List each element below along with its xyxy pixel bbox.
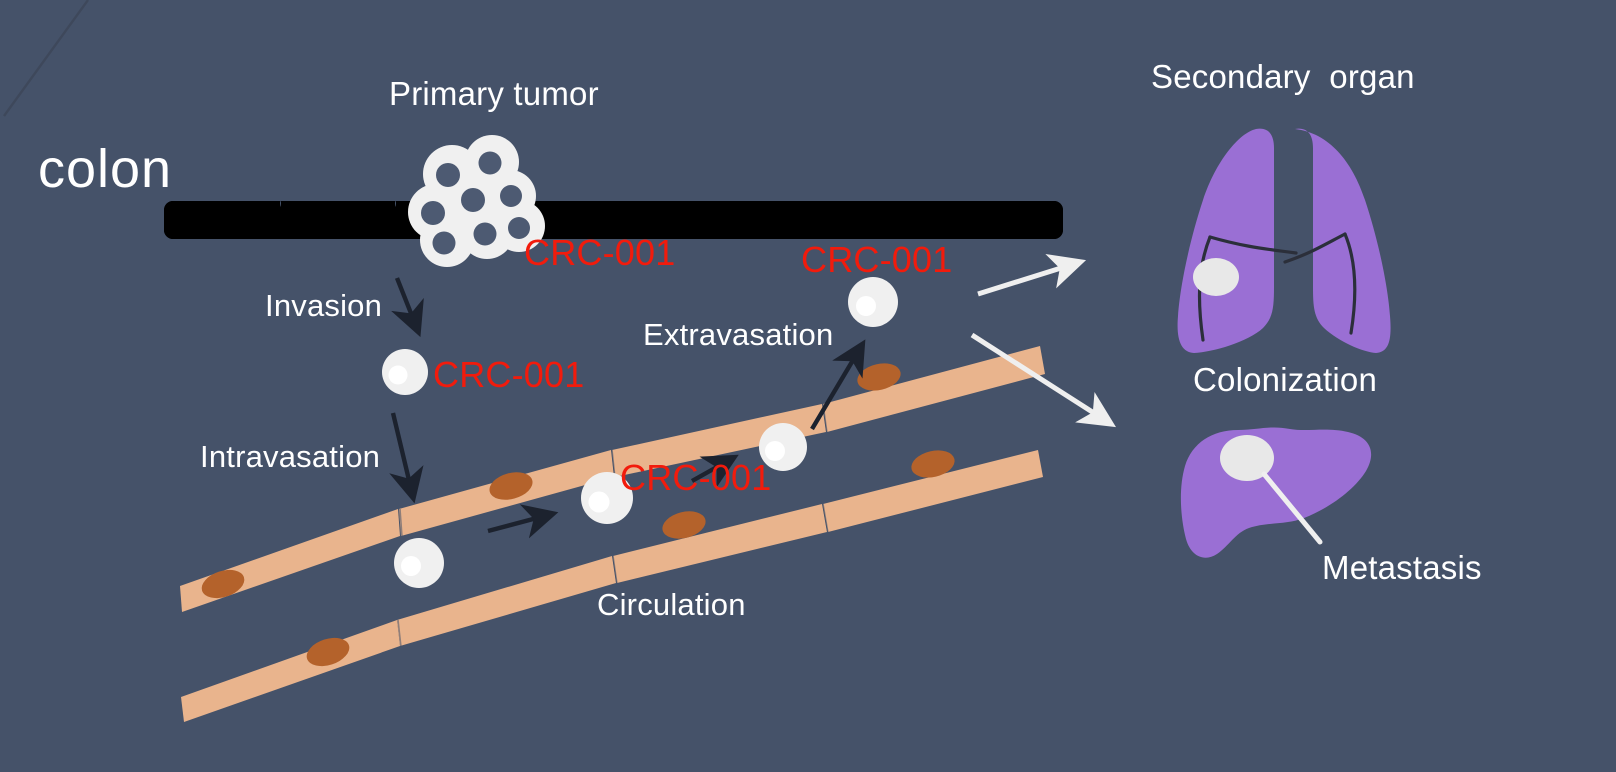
- lung-nodule: [1193, 258, 1239, 296]
- colonization-label: Colonization: [1193, 363, 1377, 396]
- crc-cell-vessel-1: [394, 538, 444, 588]
- extravasation-label: Extravasation: [643, 319, 833, 350]
- intravasation-label: Intravasation: [200, 441, 380, 472]
- colon-label: colon: [38, 142, 172, 196]
- lungs-illustration: [1178, 129, 1391, 353]
- secondary-organ-label: Secondary organ: [1151, 60, 1415, 93]
- crc-label-invaded: CRC-001: [433, 357, 584, 393]
- circulation-label: Circulation: [597, 589, 746, 620]
- crc-label-tumor: CRC-001: [524, 235, 675, 271]
- invasion-label: Invasion: [265, 290, 382, 321]
- colonization-arrow: [978, 263, 1077, 294]
- crc-cell-invaded: [382, 349, 428, 395]
- invasion-arrow: [397, 278, 418, 331]
- circulation-arrow-left: [488, 514, 552, 531]
- primary-tumor-label: Primary tumor: [389, 77, 599, 110]
- intravasation-arrow: [393, 413, 413, 497]
- metastasis-diagram: colon Primary tumor Secondary organ CRC-…: [0, 0, 1616, 772]
- crc-label-circulating: CRC-001: [620, 460, 771, 496]
- crc-cell-extravasated: [848, 277, 898, 327]
- crc-label-extravasated: CRC-001: [801, 242, 952, 278]
- corner-streak-decoration: [4, 0, 88, 116]
- metastasis-label: Metastasis: [1322, 551, 1482, 584]
- liver-illustration: [1181, 427, 1371, 557]
